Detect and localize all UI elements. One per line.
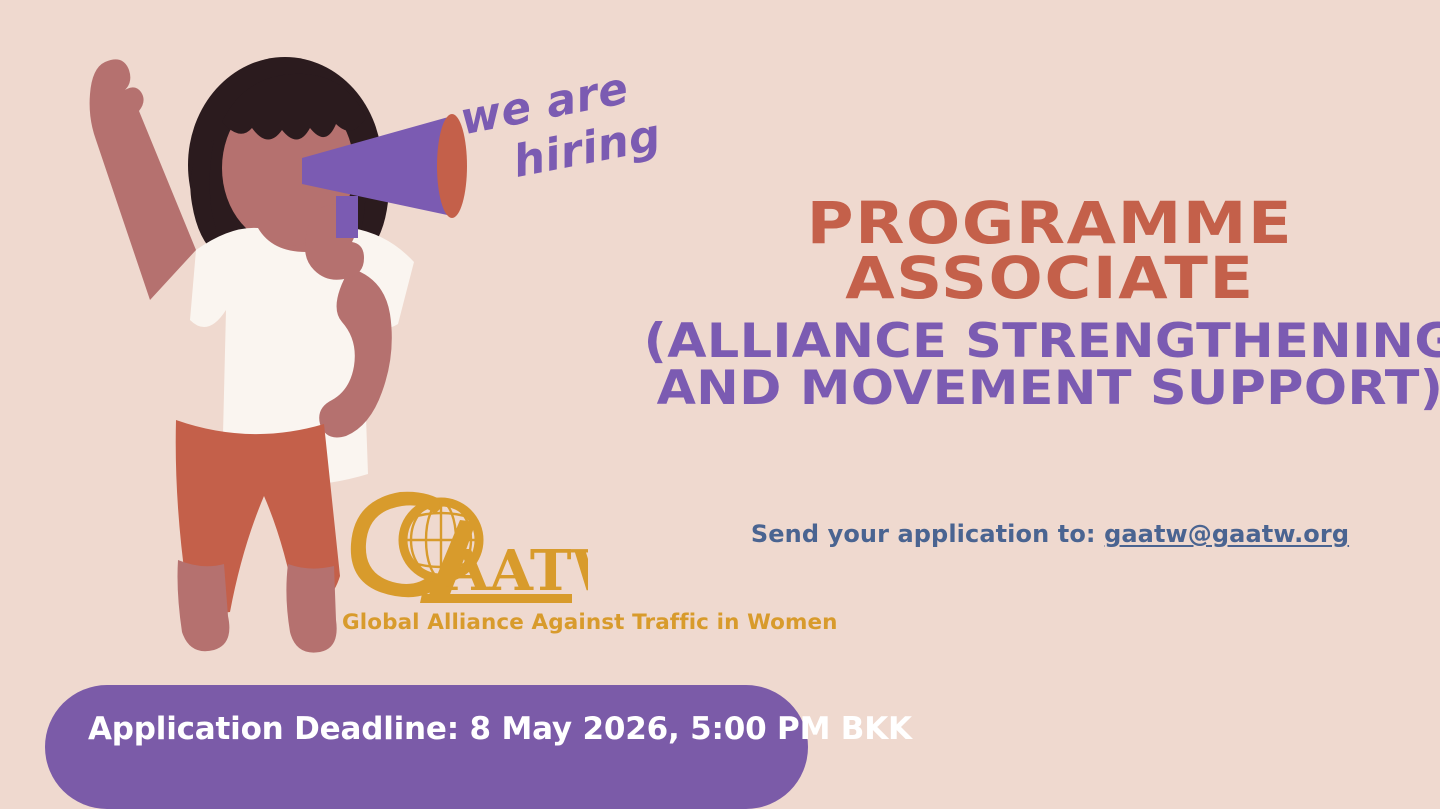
job-subtitle-line-1: (ALLIANCE STRENGTHENING: [629, 318, 1440, 365]
logo-letters: AATW: [445, 538, 588, 604]
gaatw-logo: AATW Global Alliance Against Traffic in …: [338, 482, 798, 642]
job-title-line-2: ASSOCIATE: [621, 251, 1440, 306]
job-subtitle-line-2: AND MOVEMENT SUPPORT): [629, 365, 1440, 412]
deadline-banner: Application Deadline: 8 May 2026, 5:00 P…: [45, 685, 808, 809]
logo-tagline: Global Alliance Against Traffic in Women: [342, 610, 838, 635]
job-subtitle: (ALLIANCE STRENGTHENING AND MOVEMENT SUP…: [629, 318, 1440, 412]
job-title-line-1: PROGRAMME: [621, 196, 1440, 251]
gaatw-logo-mark: AATW: [338, 482, 588, 607]
deadline-text: Application Deadline: 8 May 2026, 5:00 P…: [88, 711, 912, 747]
recruitment-poster: we are hiring PROGRAMME ASSOCIATE (ALLIA…: [0, 0, 1440, 809]
job-title-block: PROGRAMME ASSOCIATE (ALLIANCE STRENGTHEN…: [660, 196, 1440, 412]
apply-prefix-label: Send your application to:: [751, 520, 1096, 548]
page-title: PROGRAMME ASSOCIATE: [621, 196, 1440, 306]
application-email-link[interactable]: gaatw@gaatw.org: [1104, 520, 1349, 548]
